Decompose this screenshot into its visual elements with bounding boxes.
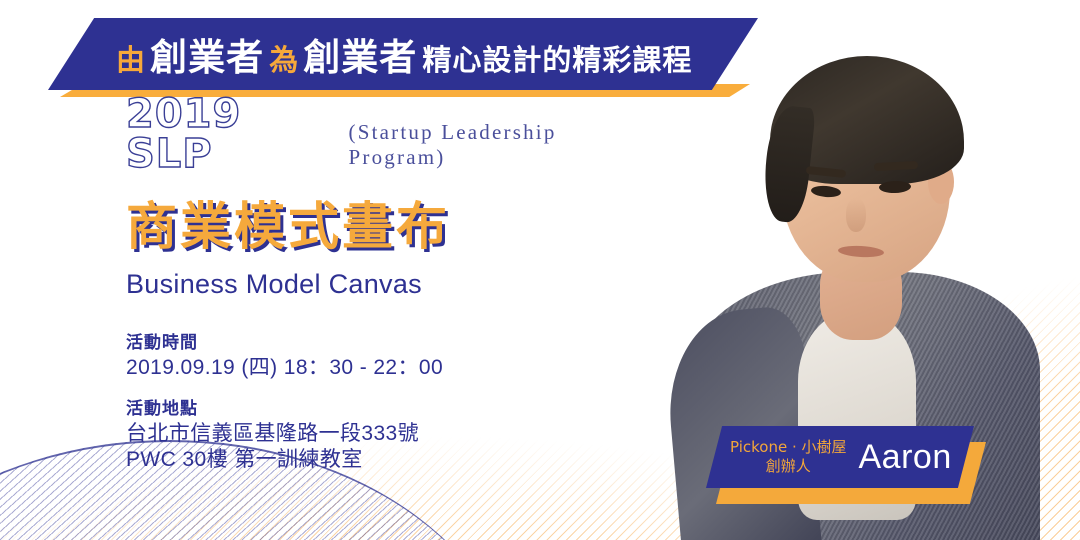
program-line: 2019 SLP (Startup Leadership Program) (126, 126, 646, 174)
portrait-eye-left (811, 185, 842, 199)
event-time-value: 2019.09.19 (四) 18：30 - 22：00 (126, 355, 646, 381)
speaker-badge: Pickone · 小樹屋 創辦人 Aaron (706, 426, 986, 502)
portrait-eyebrow-right (874, 161, 918, 171)
event-place-line-one: 台北市信義區基隆路一段333號 (126, 421, 646, 447)
event-place-line-two: PWC 30樓 第一訓練教室 (126, 447, 646, 473)
ribbon-tail: 精心設計的精彩課程 (422, 43, 692, 77)
program-year-code: 2019 SLP (126, 94, 333, 174)
event-time-label: 活動時間 (126, 328, 646, 353)
speaker-org-line-two: 創辦人 (730, 457, 847, 476)
course-title-english: Business Model Canvas (126, 269, 646, 300)
portrait-eye-right (879, 180, 911, 193)
speaker-org-line-one: Pickone · 小樹屋 (730, 438, 847, 457)
main-content: 2019 SLP (Startup Leadership Program) 商業… (126, 126, 646, 473)
portrait-ear (928, 160, 954, 204)
portrait-face (782, 72, 950, 282)
event-banner: 由 創業者 為 創業者 精心設計的精彩課程 2019 SLP (Startup … (0, 0, 1080, 540)
badge-navy-panel: Pickone · 小樹屋 創辦人 Aaron (706, 426, 974, 488)
ribbon-text: 由 創業者 為 創業者 精心設計的精彩課程 (116, 27, 692, 81)
portrait-hair-side (760, 104, 816, 224)
portrait-nose (846, 198, 866, 232)
ribbon-middle: 為 (269, 43, 298, 77)
portrait-jacket-left (670, 304, 823, 540)
event-place-label: 活動地點 (126, 394, 646, 419)
event-time-block: 活動時間 2019.09.19 (四) 18：30 - 22：00 (126, 328, 646, 381)
speaker-name: Aaron (859, 438, 952, 477)
portrait-neck (820, 248, 902, 340)
ribbon-word-two: 創業者 (303, 36, 417, 79)
course-title-chinese: 商業模式畫布 (126, 200, 646, 255)
event-place-block: 活動地點 台北市信義區基隆路一段333號 PWC 30樓 第一訓練教室 (126, 394, 646, 474)
ribbon-navy-banner: 由 創業者 為 創業者 精心設計的精彩課程 (48, 18, 758, 90)
ribbon-prefix: 由 (116, 43, 145, 77)
portrait-hair (770, 56, 964, 184)
ribbon-word-one: 創業者 (150, 36, 264, 79)
portrait-mouth (838, 245, 885, 258)
speaker-organization: Pickone · 小樹屋 創辦人 (730, 438, 847, 476)
portrait-eyebrow-left (806, 166, 847, 178)
program-full-name: (Startup Leadership Program) (349, 120, 646, 174)
